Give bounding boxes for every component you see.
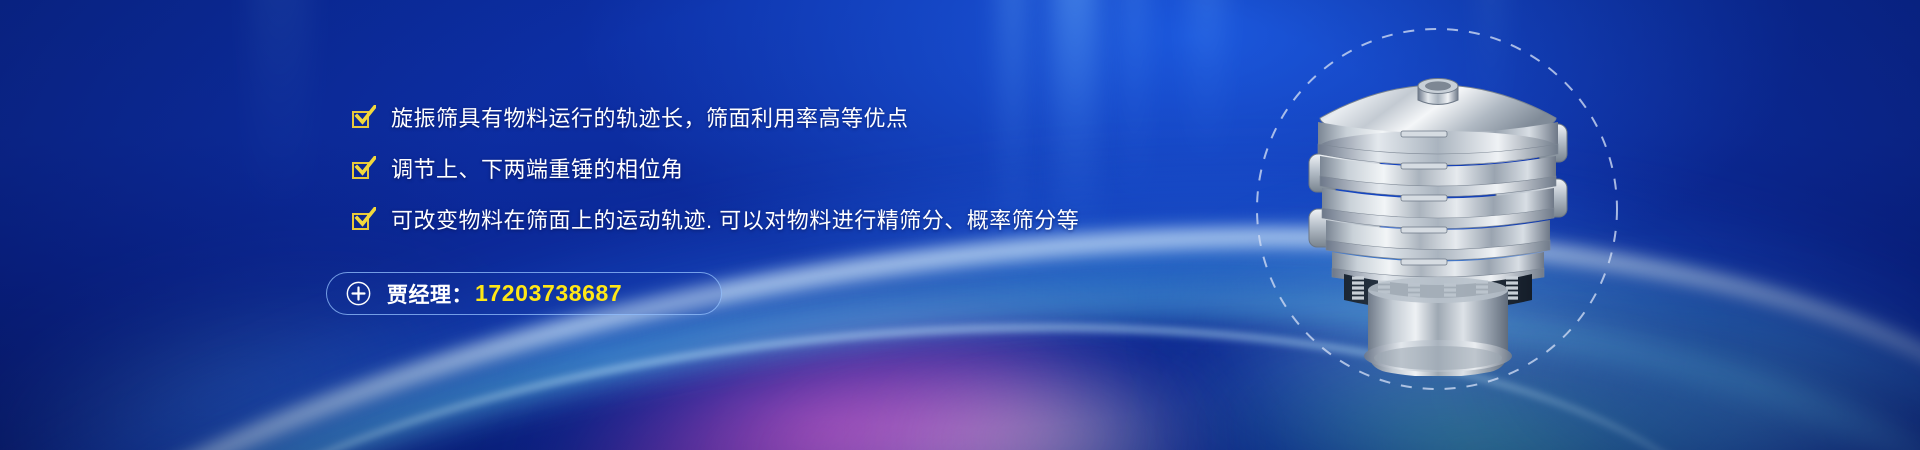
check-box-icon	[352, 160, 374, 182]
contact-button[interactable]: 贾经理： 17203738687	[326, 272, 722, 315]
plus-circle-icon	[346, 281, 371, 306]
feature-list: 旋振筛具有物料运行的轨迹长，筛面利用率高等优点 调节上、下两端重锤的相位角 可改…	[352, 104, 1252, 257]
check-box-icon	[352, 211, 374, 233]
rotary-vibrating-sieve-icon	[1268, 46, 1608, 376]
contact-name-label: 贾经理：	[387, 279, 473, 309]
list-item: 旋振筛具有物料运行的轨迹长，筛面利用率高等优点	[352, 104, 1252, 134]
feature-text: 旋振筛具有物料运行的轨迹长，筛面利用率高等优点	[391, 104, 909, 134]
product-image	[1254, 26, 1620, 394]
feature-text: 调节上、下两端重锤的相位角	[391, 155, 684, 185]
check-box-icon	[352, 109, 374, 131]
motor-base	[1364, 277, 1512, 376]
promo-banner: 旋振筛具有物料运行的轨迹长，筛面利用率高等优点 调节上、下两端重锤的相位角 可改…	[0, 0, 1920, 450]
feature-text: 可改变物料在筛面上的运动轨迹. 可以对物料进行精筛分、概率筛分等	[391, 206, 1079, 236]
list-item: 调节上、下两端重锤的相位角	[352, 155, 1252, 185]
contact-phone-number: 17203738687	[475, 280, 622, 307]
list-item: 可改变物料在筛面上的运动轨迹. 可以对物料进行精筛分、概率筛分等	[352, 206, 1252, 236]
